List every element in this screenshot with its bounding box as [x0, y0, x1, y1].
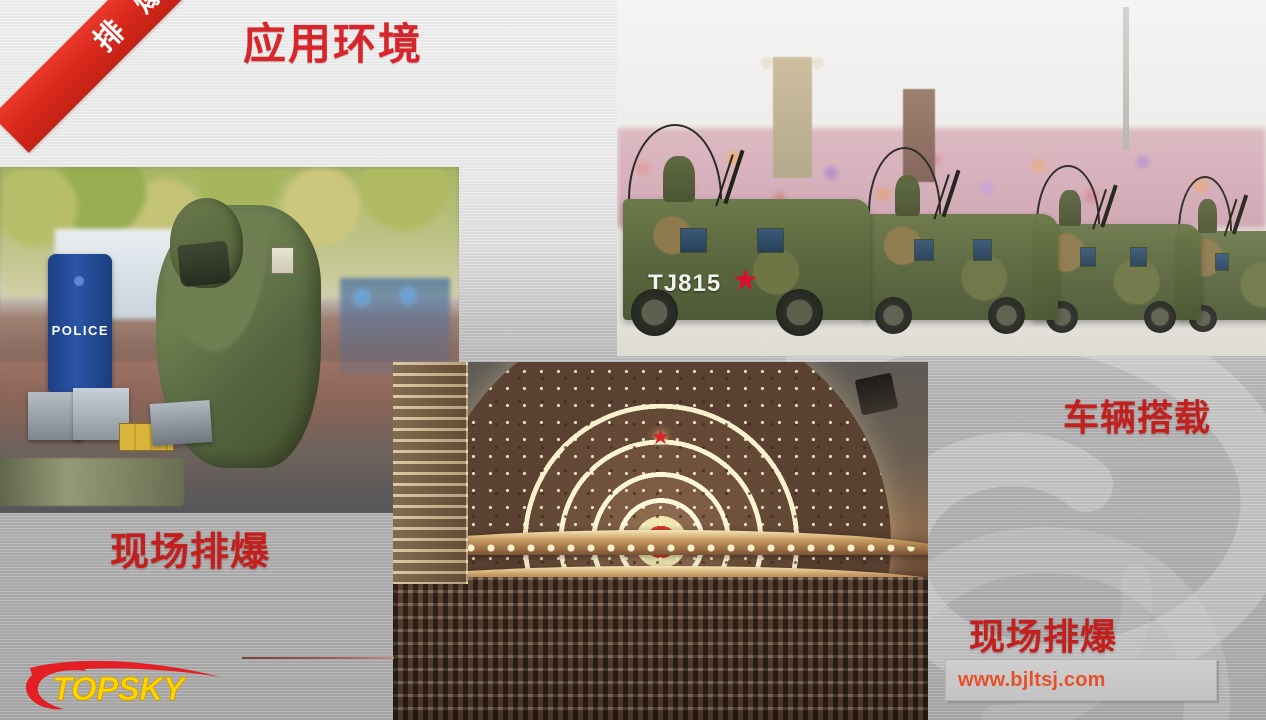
great-hall-of-the-people-photo: ★ [393, 362, 928, 720]
pla-red-star-icon: ★ [732, 266, 759, 296]
eod-visor [177, 241, 232, 288]
caption-on-site-disposal-right: 现场排爆 [969, 608, 1117, 660]
armored-vehicle-1: TJ815 ★ [623, 199, 870, 320]
vehicle-window [680, 228, 707, 252]
topsky-logo-text: TOPSKY [52, 670, 188, 707]
vehicle-wheel [631, 289, 678, 336]
vehicle-window [757, 228, 784, 252]
turret-gunner [1198, 199, 1217, 233]
vehicle-window [1215, 253, 1229, 271]
vehicle-window [1130, 247, 1147, 266]
caption-vehicle-mounted: 车辆搭载 [1063, 389, 1211, 441]
vehicle-wheel [1144, 301, 1176, 333]
armored-vehicle-2 [864, 214, 1059, 321]
page-title: 应用环境 [243, 10, 423, 72]
shield-police-text: POLICE [48, 323, 112, 338]
flag-pole [1123, 7, 1129, 149]
ribbon-label: 排爆 [0, 0, 230, 153]
eod-ground-mat [0, 458, 184, 506]
police-ballistic-shield: POLICE [48, 254, 112, 392]
website-url-box[interactable]: www.bjltsj.com [945, 659, 1217, 701]
vehicle-window [973, 239, 992, 260]
eod-shoulder-patch [271, 247, 294, 275]
slide-canvas: 排爆 应用环境 POLICE [0, 0, 1266, 720]
topsky-logo: TOPSKY [20, 659, 238, 711]
vehicle-window [914, 239, 933, 260]
tiananmen-lamp-post [773, 57, 812, 178]
corner-ribbon: 排爆 [0, 0, 230, 175]
vehicle-window [1080, 247, 1097, 266]
website-url-text: www.bjltsj.com [946, 669, 1106, 692]
ceiling-red-star-icon: ★ [651, 426, 671, 448]
eod-equipment-case-3 [150, 400, 212, 446]
turret-gunner [895, 175, 920, 216]
turret-gunner [1059, 190, 1081, 227]
turret-gunner [663, 156, 695, 202]
footer-divider [242, 657, 394, 659]
shield-viewport-icon [74, 276, 84, 286]
eod-police-line [340, 278, 450, 375]
hall-delegate-seating [393, 577, 928, 720]
caption-on-site-disposal-left: 现场排爆 [110, 521, 270, 577]
military-parade-photo: TJ815 ★ [617, 0, 1266, 356]
hall-side-wall [393, 362, 468, 584]
on-site-bomb-disposal-photo: POLICE [0, 167, 459, 513]
ribbon-band: 排爆 [0, 0, 230, 153]
